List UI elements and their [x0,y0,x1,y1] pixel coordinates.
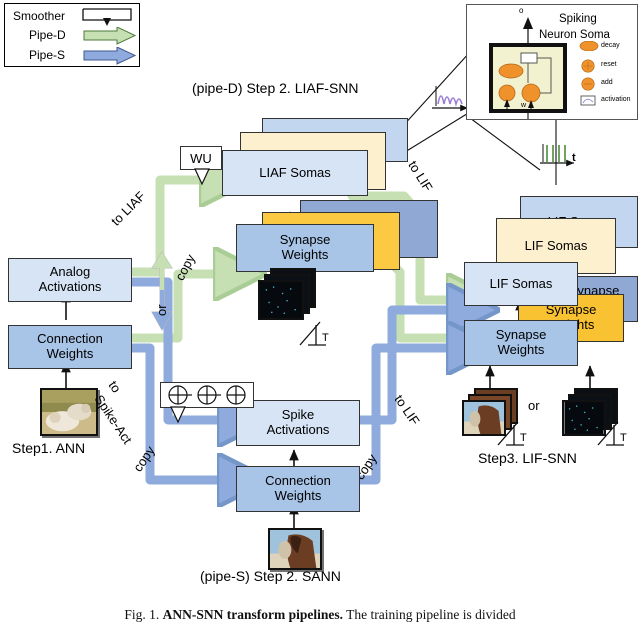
liaf-synapse-front-line2: Weights [282,248,329,263]
analog-activations-line2: Activations [39,280,102,295]
lif-synapse-front-line1: Synapse [496,328,547,343]
add-circle-icon [581,77,595,91]
activation-box-icon [580,95,596,106]
liaf-synapse-weights-front-box[interactable]: Synapse Weights [236,224,374,272]
smoother-icon [81,7,137,29]
liaf-synapse-front-line1: Synapse [280,233,331,248]
spike-act-operator-box[interactable] [160,382,254,408]
caption-bold: ANN-SNN transform pipelines. [163,607,343,622]
figure-canvas: Smoother Pipe-D Pipe-S (pipe-D) Step 2. … [0,0,640,627]
inset-legend-reset-label: reset [601,61,617,68]
lif-synapse-front-line2: Weights [498,343,545,358]
pipe-d-title: (pipe-D) Step 2. LIAF-SNN [192,80,359,96]
spike-activations-box[interactable]: Spike Activations [236,400,360,446]
wu-label: WU [190,151,212,166]
analog-activations-box[interactable]: Analog Activations [8,258,132,302]
ann-connection-weights-line2: Weights [47,347,94,362]
sann-connection-weights-line2: Weights [275,489,322,504]
circle-plus-icon-2 [196,384,222,406]
wu-down-arrow-icon [192,168,212,186]
lif-spike-plot [540,144,574,163]
figure-caption: Fig. 1. ANN-SNN transform pipelines. The… [0,607,640,623]
pipe-d-arrow-icon [83,27,141,45]
legend-box: Smoother Pipe-D Pipe-S [4,3,140,67]
ann-connection-weights-line1: Connection [37,332,103,347]
pipe-s-title: (pipe-S) Step 2. SANN [200,568,341,584]
reset-circle-icon [581,59,595,73]
liaf-waveform-plot [432,86,468,108]
caption-prefix: Fig. 1. [124,607,159,622]
inset-legend-activation-label: activation [601,96,631,103]
spiking-neuron-soma-inset: Spiking Neuron Soma w o decay [466,4,638,120]
lif-somas-front-label: LIF Somas [490,277,553,292]
liaf-somas-front-label: LIAF Somas [259,166,331,181]
lif-input-image-stack-horse [462,388,524,444]
lif-plot-t-label: t [572,152,576,164]
step1-title: Step1. ANN [12,440,85,456]
decay-ellipse-icon [579,41,599,51]
sann-connection-weights-line1: Connection [265,474,331,489]
step3-title: Step3. LIF-SNN [478,450,577,466]
spike-act-down-arrow-icon [168,406,188,424]
liaf-spike-tensor-stack [258,268,320,326]
ann-input-image-sheep [40,388,98,436]
legend-pipe-s-label: Pipe-S [29,48,65,62]
legend-pipe-d-label: Pipe-D [29,28,66,42]
liaf-somas-front-box[interactable]: LIAF Somas [222,150,368,196]
lif-somas-mid-label: LIF Somas [525,239,588,254]
spike-activations-line1: Spike [282,408,315,423]
caption-rest: The training pipeline is divided [346,607,515,622]
analog-activations-line1: Analog [50,265,90,280]
ann-connection-weights-box[interactable]: Connection Weights [8,325,132,369]
lif-synapse-weights-front-box[interactable]: Synapse Weights [464,320,578,366]
inset-legend-decay-label: decay [601,42,620,49]
liaf-time-label: T [322,332,329,344]
pipe-s-arrow-icon [83,47,141,65]
wu-box[interactable]: WU [180,146,222,170]
inset-output-symbol: o [519,6,523,15]
spike-activations-line2: Activations [267,423,330,438]
lif-input-or-label: or [528,398,540,413]
inset-weight-symbol: w [521,102,526,109]
legend-smoother-label: Smoother [13,9,65,23]
sann-connection-weights-box[interactable]: Connection Weights [236,466,360,512]
lif-somas-front-box[interactable]: LIF Somas [464,262,578,306]
sann-input-image-horse [268,528,322,570]
or-switch-label: or [154,304,169,316]
circle-plus-icon-3 [225,384,247,406]
inset-legend-add-label: add [601,79,613,86]
lif-input-spike-stack [562,388,624,444]
circle-plus-icon-1 [167,384,193,406]
